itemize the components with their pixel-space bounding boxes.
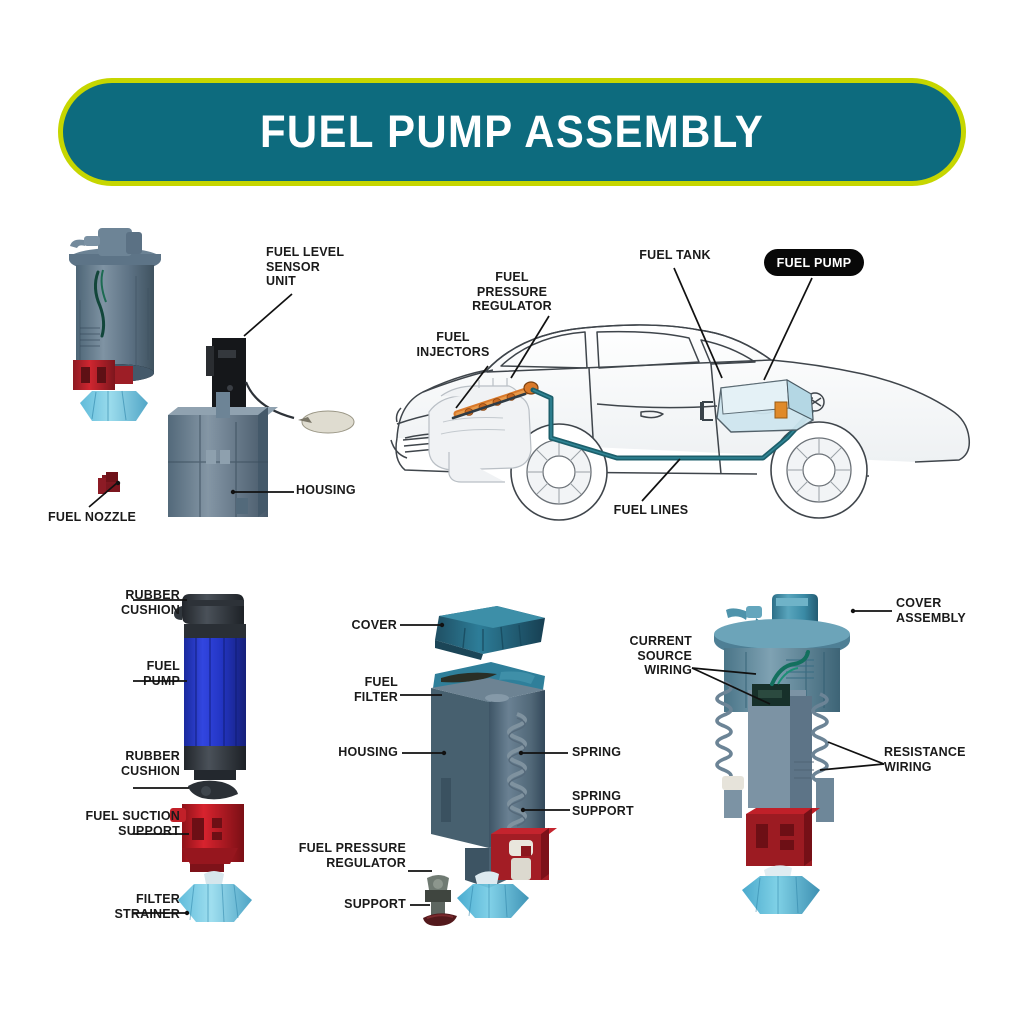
leader-current-source-wiring [690, 660, 774, 716]
label-fuel-injectors-car: FUEL INJECTORS [403, 330, 503, 359]
label-current-source-wiring: CURRENT SOURCE WIRING [596, 634, 692, 678]
leader-spring-mid [516, 748, 572, 758]
leader-cover-mid [398, 620, 446, 630]
leader-housing-top [228, 487, 298, 497]
leader-fuel-level-sensor-unit [240, 292, 300, 340]
support-part [423, 913, 457, 926]
bottom-left-module-illustration [160, 580, 300, 940]
header-banner: FUEL PUMP ASSEMBLY [58, 78, 966, 186]
leader-support-mid [408, 900, 434, 910]
leader-spring-support-mid [518, 805, 574, 815]
leader-fuel-pump-car [760, 276, 816, 384]
leader-rubber-cushion-bottom [131, 783, 193, 793]
leader-resistance-wiring [812, 740, 888, 792]
leader-fuel-pressure-regulator-mid [406, 866, 436, 876]
fuel-pump-badge: FUEL PUMP [764, 249, 864, 276]
leader-fuel-lines-car [640, 457, 684, 505]
leader-fuel-suction-support [131, 829, 193, 839]
bottom-mid-module-illustration [405, 598, 595, 928]
red-bracket-part [746, 808, 820, 866]
fuel-pump-body-part [184, 624, 246, 780]
spring-collar-left [722, 776, 744, 790]
label-rubber-cushion-bottom: RUBBER CUSHION [60, 749, 180, 778]
leader-rubber-cushion-top [131, 595, 191, 605]
leader-fuel-tank-car [672, 266, 728, 382]
label-fuel-pressure-regulator-car: FUEL PRESSURE REGULATOR [452, 270, 572, 314]
label-spring-support-mid: SPRING SUPPORT [572, 789, 652, 818]
fuel-pump-module-body [69, 228, 161, 421]
leader-fuel-filter-mid [398, 690, 446, 700]
label-spring-mid: SPRING [572, 745, 642, 760]
strainer-right-part [742, 865, 820, 914]
label-cover-mid: COVER [325, 618, 397, 633]
cover-part [435, 606, 545, 660]
label-housing-mid: HOUSING [318, 745, 398, 760]
leader-fuel-injectors-car [452, 364, 492, 412]
leader-fuel-pump-bl [131, 676, 191, 686]
page-title: FUEL PUMP ASSEMBLY [260, 106, 764, 158]
housing-part [168, 392, 278, 517]
fuel-pressure-regulator-part [425, 875, 451, 918]
label-fuel-lines-car: FUEL LINES [596, 503, 706, 518]
fuel-pump-badge-label: FUEL PUMP [777, 256, 852, 270]
label-fuel-level-sensor-unit: FUEL LEVEL SENSOR UNIT [266, 245, 386, 289]
label-cover-assembly: COVER ASSEMBLY [896, 596, 996, 625]
label-fuel-nozzle: FUEL NOZZLE [48, 510, 168, 525]
leader-fuel-nozzle [85, 481, 121, 511]
label-housing-top: HOUSING [296, 483, 386, 498]
leader-cover-assembly [848, 606, 896, 616]
label-resistance-wiring: RESISTANCE WIRING [884, 745, 994, 774]
label-fuel-pressure-regulator-mid: FUEL PRESSURE REGULATOR [276, 841, 406, 870]
label-fuel-filter-mid: FUEL FILTER [328, 675, 398, 704]
leader-filter-strainer [131, 908, 193, 918]
rubber-cushion-bottom-part [188, 781, 238, 800]
label-fuel-tank-car: FUEL TANK [620, 248, 730, 263]
leader-housing-mid [400, 748, 448, 758]
spring-support-part [491, 828, 557, 880]
label-support-mid: SUPPORT [328, 897, 406, 912]
leader-fuel-pressure-regulator-car [505, 314, 553, 382]
